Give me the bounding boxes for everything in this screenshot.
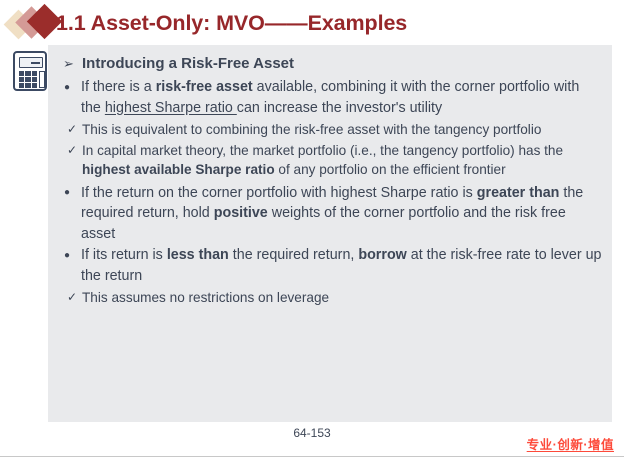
calculator-key <box>32 71 37 76</box>
outline-level-3-a: ✓ This is equivalent to combining the ri… <box>56 120 602 180</box>
calculator-keypad <box>19 71 37 88</box>
content-panel: ➢ Introducing a Risk-Free Asset ● If the… <box>48 45 612 422</box>
list-item: ✓ In capital market theory, the market p… <box>56 141 602 180</box>
calculator-key <box>19 71 24 76</box>
check-bullet-icon: ✓ <box>67 120 77 140</box>
calculator-key <box>32 77 37 82</box>
calculator-icon <box>13 51 47 91</box>
dot-bullet-icon: ● <box>64 245 70 266</box>
calculator-key <box>25 77 30 82</box>
arrow-bullet-icon: ➢ <box>63 54 74 74</box>
text-segment: In capital market theory, the market por… <box>82 143 563 158</box>
calculator-body <box>13 51 47 91</box>
dot-bullet-icon: ● <box>64 182 70 203</box>
calculator-screen-digits <box>31 62 40 64</box>
list-item: ● If the return on the corner portfolio … <box>56 183 602 245</box>
text-segment-underline: highest Sharpe ratio <box>105 100 237 116</box>
outline-level-3-b: ✓ This assumes no restrictions on levera… <box>56 288 602 308</box>
text-segment: If the return on the corner portfolio wi… <box>81 185 477 201</box>
dot-bullet-icon: ● <box>64 77 70 98</box>
diamond-logo-icon <box>2 3 60 43</box>
calculator-screen <box>19 57 43 68</box>
calculator-key <box>32 83 37 88</box>
list-item: ● If there is a risk-free asset availabl… <box>56 77 602 118</box>
text-segment: If there is a <box>81 79 156 95</box>
list-item-text: If its return is less than the required … <box>81 247 601 284</box>
text-segment: can increase the investor's utility <box>237 100 442 116</box>
calculator-enter-key <box>39 71 45 88</box>
outline-level-1: ➢ Introducing a Risk-Free Asset <box>56 54 602 74</box>
text-segment: of any portfolio on the efficient fronti… <box>275 162 506 177</box>
list-item-heading: ➢ Introducing a Risk-Free Asset <box>56 54 602 74</box>
list-item-text: If there is a risk-free asset available,… <box>81 79 579 116</box>
text-segment-bold: highest available Sharpe ratio <box>82 162 275 177</box>
list-item-text: This assumes no restrictions on leverage <box>82 290 329 305</box>
text-segment: the required return, <box>229 247 359 263</box>
slide-header: 1.1 Asset-Only: MVO——Examples <box>0 2 624 44</box>
outline-level-2-b: ● If the return on the corner portfolio … <box>56 183 602 287</box>
text-segment-bold: positive <box>214 205 268 221</box>
page-title: 1.1 Asset-Only: MVO——Examples <box>56 11 407 36</box>
section-heading-text: Introducing a Risk-Free Asset <box>82 55 294 72</box>
calculator-key <box>19 77 24 82</box>
outline-level-2-a: ● If there is a risk-free asset availabl… <box>56 77 602 118</box>
list-item-text: In capital market theory, the market por… <box>82 143 563 178</box>
calculator-key <box>25 83 30 88</box>
calculator-key <box>25 71 30 76</box>
list-item: ✓ This assumes no restrictions on levera… <box>56 288 602 308</box>
check-bullet-icon: ✓ <box>67 288 77 308</box>
list-item: ✓ This is equivalent to combining the ri… <box>56 120 602 140</box>
text-segment-bold: risk-free asset <box>156 79 253 95</box>
list-item: ● If its return is less than the require… <box>56 245 602 286</box>
check-bullet-icon: ✓ <box>67 141 77 161</box>
brand-tagline: 专业·创新·增值 <box>527 434 614 453</box>
text-segment-bold: borrow <box>358 247 406 263</box>
calculator-key <box>19 83 24 88</box>
list-item-text: This is equivalent to combining the risk… <box>82 122 541 137</box>
text-segment-bold: greater than <box>477 185 560 201</box>
list-item-text: If the return on the corner portfolio wi… <box>81 185 583 242</box>
text-segment: If its return is <box>81 247 167 263</box>
text-segment-bold: less than <box>167 247 229 263</box>
